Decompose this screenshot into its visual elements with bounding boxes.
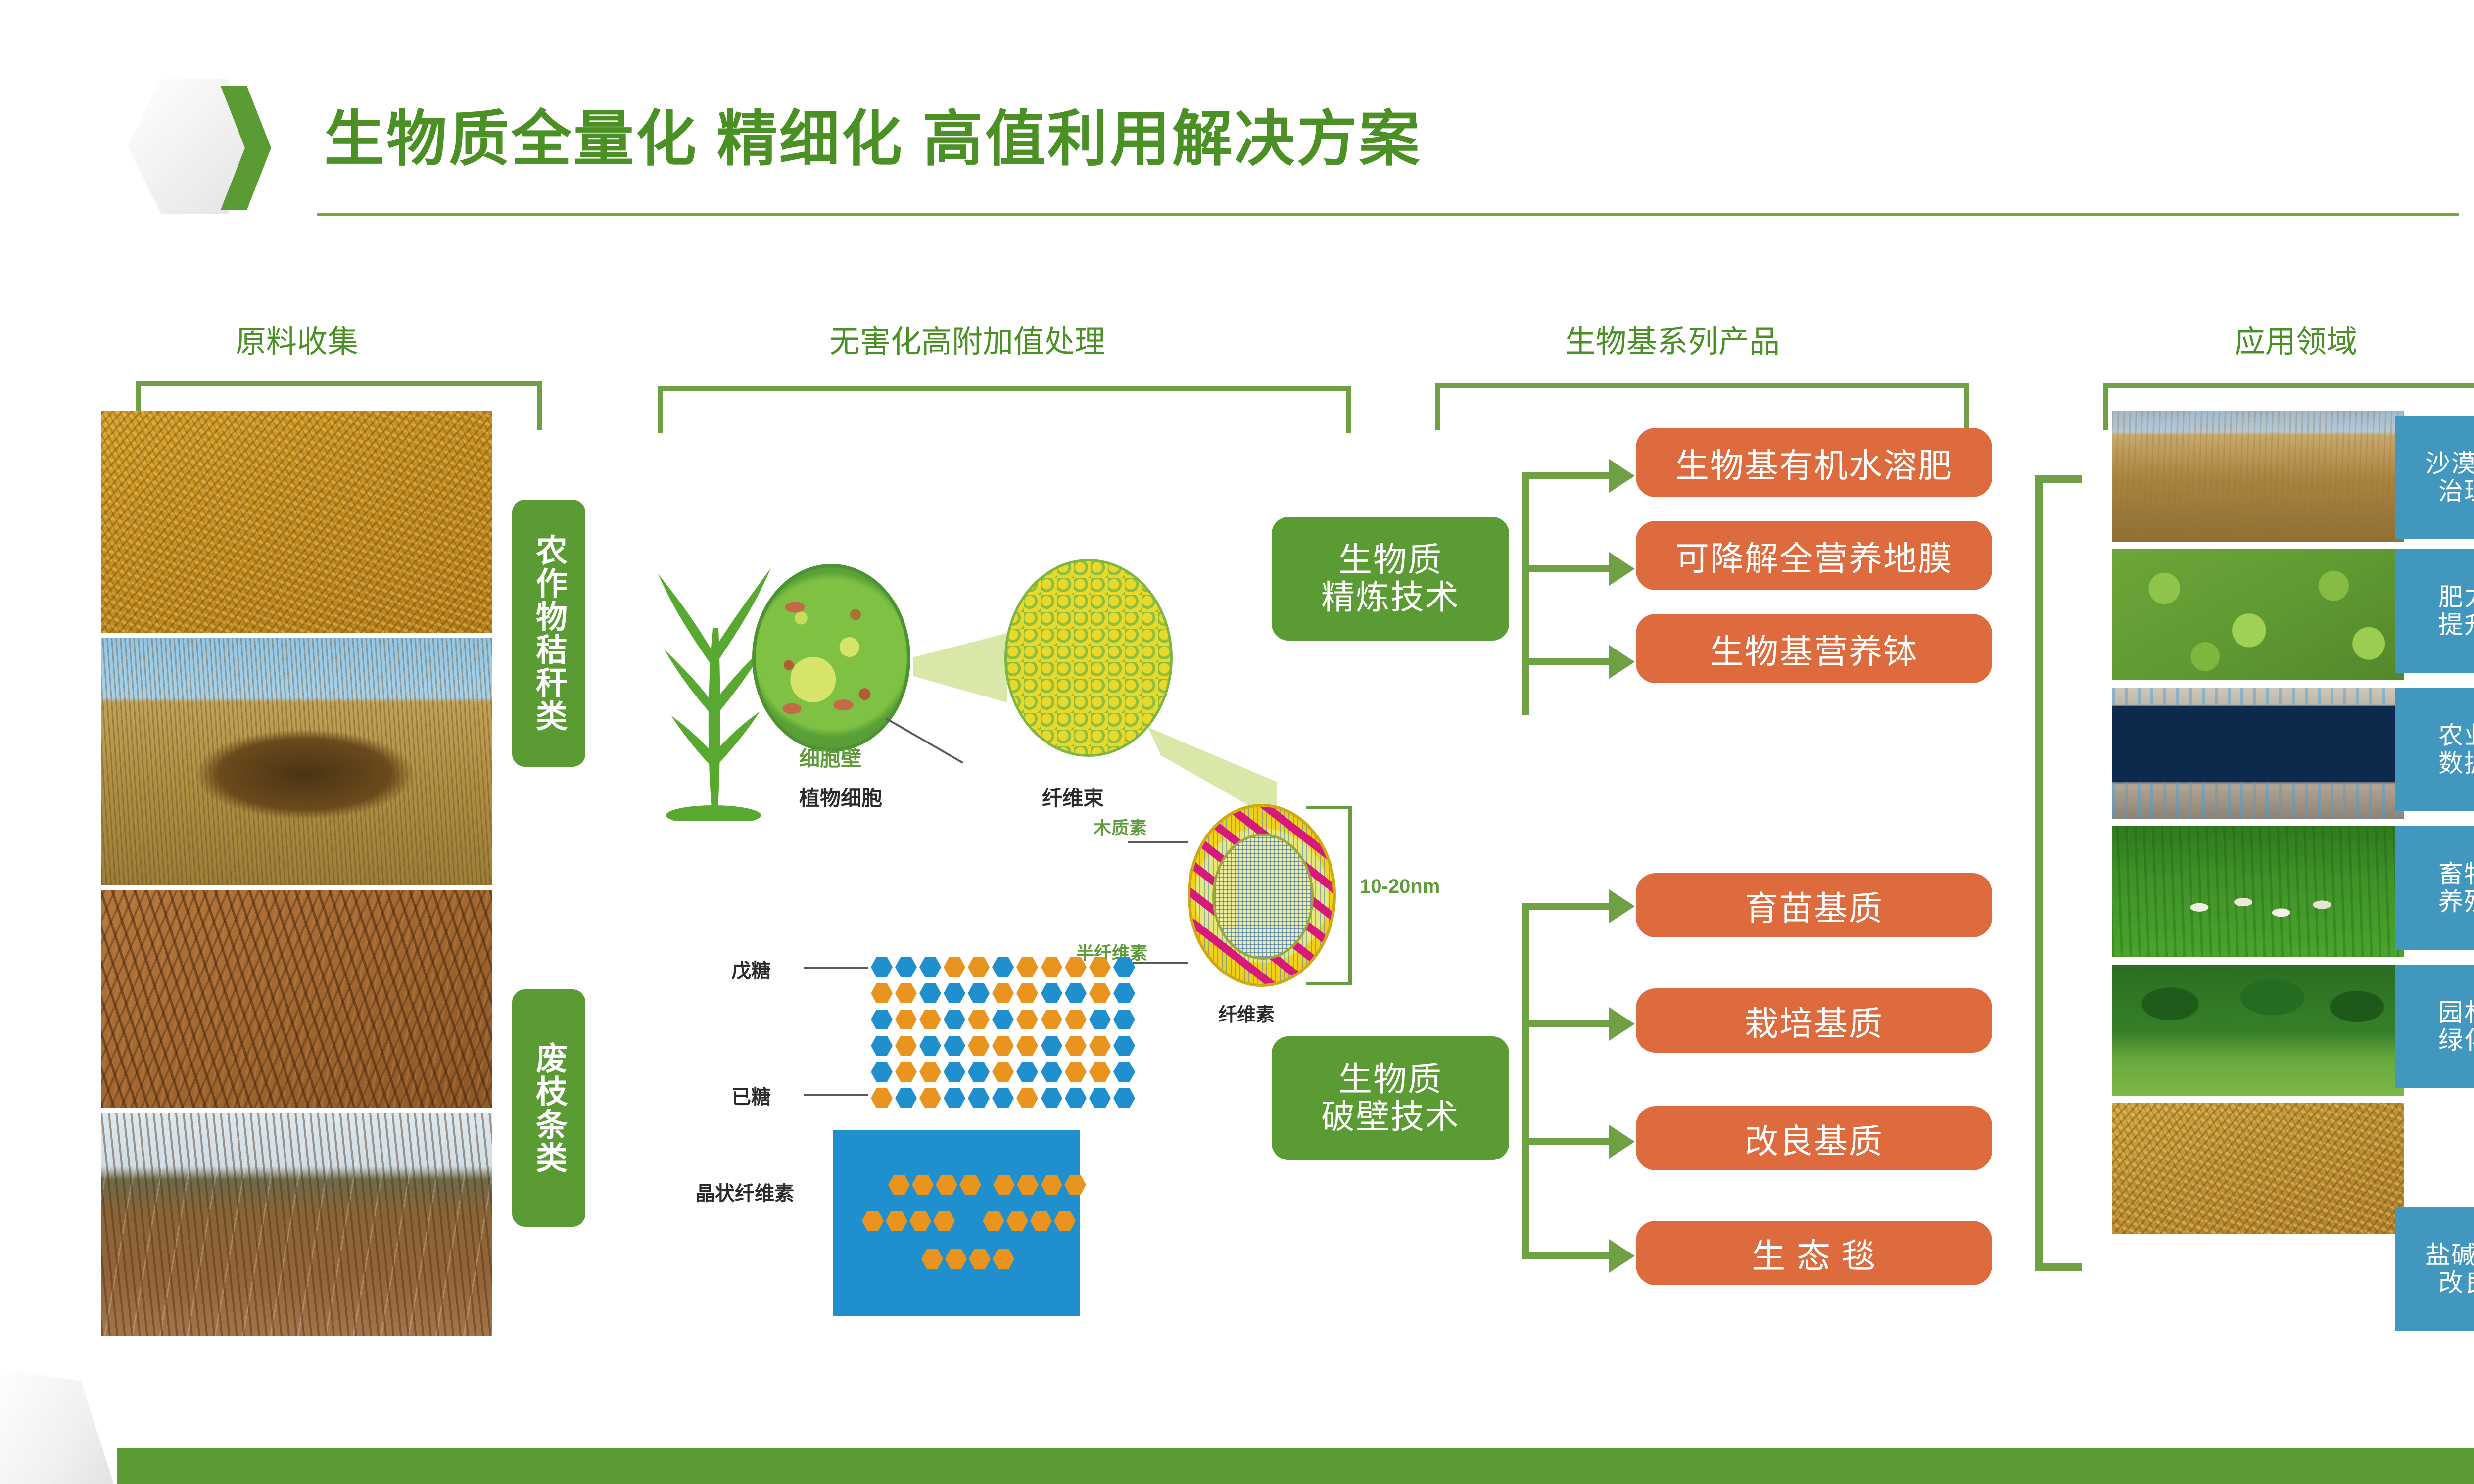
- application-tag-desertification[interactable]: 沙漠化 治理: [2395, 416, 2474, 539]
- app-livestock-line1: 畜牧: [2438, 860, 2474, 888]
- app-saline-line2: 改良: [2438, 1269, 2474, 1297]
- application-tag-saline-soil[interactable]: 盐碱地 改良: [2395, 1207, 2474, 1331]
- sugar-chain-row-2: [871, 983, 1135, 1003]
- pentose-leader-line: [804, 967, 868, 969]
- section-header-applications: 应用领域: [2113, 317, 2474, 361]
- application-photo-livestock: [2112, 826, 2404, 957]
- application-photo-agri-data: [2112, 688, 2404, 819]
- feedstock-tag-crop-straw: 农作物秸秆类: [512, 500, 585, 767]
- flow-arrow-line-wallbreak-4: [1522, 1252, 1611, 1259]
- flow-arrow-line-wallbreak-2: [1522, 1020, 1611, 1027]
- application-bracket-top: [2035, 475, 2082, 483]
- label-plant-cell: 植物细胞: [799, 782, 882, 812]
- fiber-bundle-illustration: [1004, 559, 1173, 757]
- application-photo-saline-soil: [2112, 1103, 2404, 1234]
- flow-arrow-head-wallbreak-2: [1609, 1007, 1635, 1041]
- application-photo-landscaping: [2112, 965, 2404, 1096]
- flow-arrow-head-refining-3: [1609, 645, 1635, 679]
- product-pill-seedling-substrate[interactable]: 育苗基质: [1636, 873, 1992, 937]
- app-livestock-line2: 养殖: [2438, 888, 2474, 916]
- cell-wall-leader-line: [885, 717, 963, 763]
- flow-arrow-head-refining-2: [1609, 552, 1635, 586]
- app-fertility-line1: 肥力: [2438, 583, 2474, 611]
- section-bracket-processing: [658, 386, 1351, 433]
- application-bracket-bottom: [2035, 1263, 2082, 1271]
- sugar-chain-row-1: [871, 957, 1135, 977]
- crystal-row-top: [888, 1175, 1086, 1195]
- page-title: 生物质全量化 精细化 高值利用解决方案: [324, 90, 1422, 178]
- feedstock-photo-branches: [101, 890, 492, 1108]
- application-tag-fertility[interactable]: 肥力 提升: [2395, 549, 2474, 673]
- feedstock-tag-waste-branches: 废枝条类: [512, 989, 585, 1227]
- tech-box-wall-breaking[interactable]: 生物质 破壁技术: [1272, 1036, 1509, 1160]
- application-photo-desertification: [2112, 411, 2404, 542]
- label-fiber-dimension: 10-20nm: [1360, 876, 1440, 898]
- application-tag-landscaping[interactable]: 园林 绿化: [2395, 965, 2474, 1088]
- flow-bracket-refining-stem: [1522, 472, 1529, 715]
- flow-arrow-line-refining-2: [1522, 565, 1611, 572]
- product-pill-cultivation-substrate[interactable]: 栽培基质: [1636, 988, 1992, 1053]
- section-header-feedstock: 原料收集: [148, 317, 445, 361]
- dimension-tick-top: [1306, 806, 1352, 809]
- product-pill-nutrient-pot[interactable]: 生物基营养钵: [1636, 614, 1992, 683]
- cellulose-core: [1212, 834, 1314, 960]
- dimension-line-vertical: [1348, 806, 1352, 984]
- flow-arrow-line-refining-1: [1522, 472, 1611, 479]
- hexose-leader-line: [804, 1094, 868, 1096]
- product-pill-ecological-blanket[interactable]: 生 态 毯: [1636, 1221, 1992, 1285]
- app-landscape-line1: 园林: [2438, 999, 2474, 1026]
- app-desert-line2: 治理: [2438, 477, 2474, 505]
- feedstock-photo-corn-straw: [101, 411, 492, 633]
- sugar-chain-row-6: [871, 1088, 1135, 1108]
- flow-arrow-line-wallbreak-1: [1522, 903, 1611, 910]
- product-pill-improvement-substrate[interactable]: 改良基质: [1636, 1106, 1992, 1170]
- app-saline-line1: 盐碱地: [2426, 1241, 2474, 1269]
- label-hexose: 已糖: [731, 1081, 771, 1110]
- sugar-chain-row-4: [871, 1036, 1135, 1056]
- sugar-chain-row-3: [871, 1010, 1135, 1029]
- product-pill-biodegradable-mulch-film[interactable]: 可降解全营养地膜: [1636, 521, 1992, 590]
- dimension-tick-bottom: [1306, 982, 1352, 985]
- section-header-products: 生物基系列产品: [1425, 317, 1920, 361]
- flow-arrow-head-wallbreak-3: [1609, 1125, 1635, 1159]
- section-header-processing: 无害化高附加值处理: [715, 317, 1220, 361]
- hexagon-logo: [128, 73, 271, 219]
- label-crystalline-cellulose: 晶状纤维素: [695, 1177, 794, 1206]
- product-pill-water-soluble-fertilizer[interactable]: 生物基有机水溶肥: [1636, 428, 1992, 497]
- app-desert-line1: 沙漠化: [2426, 450, 2474, 477]
- label-pentose: 戊糖: [731, 955, 771, 983]
- flow-arrow-line-refining-3: [1522, 658, 1611, 665]
- flow-arrow-line-wallbreak-3: [1522, 1138, 1611, 1145]
- magnify-beam-2: [913, 633, 1007, 702]
- application-bracket-stem: [2035, 475, 2043, 1271]
- section-bracket-products: [1435, 383, 1969, 430]
- application-tag-agri-data[interactable]: 农业 数据: [2395, 688, 2474, 811]
- title-divider: [317, 213, 2459, 216]
- flow-arrow-head-wallbreak-1: [1609, 889, 1635, 923]
- crystal-row-middle: [862, 1211, 1076, 1231]
- application-photo-fertility: [2112, 549, 2404, 680]
- feedstock-photo-vineyard: [101, 1113, 492, 1336]
- tech-refining-line1: 生物质: [1338, 541, 1442, 579]
- feedstock-photo-straw-bale: [101, 638, 492, 885]
- label-lignin: 木质素: [1094, 814, 1147, 839]
- application-tag-livestock[interactable]: 畜牧 养殖: [2395, 826, 2474, 950]
- app-data-line2: 数据: [2438, 749, 2474, 777]
- plant-cell-illustration: [752, 564, 910, 752]
- tech-box-refining[interactable]: 生物质 精炼技术: [1272, 517, 1509, 641]
- tech-refining-line2: 精炼技术: [1321, 579, 1460, 616]
- lignin-leader-line: [1128, 841, 1188, 843]
- tech-wallbreak-line2: 破壁技术: [1321, 1098, 1460, 1136]
- flow-arrow-head-wallbreak-4: [1609, 1239, 1635, 1273]
- label-cell-wall: 细胞壁: [799, 742, 861, 772]
- app-landscape-line2: 绿化: [2438, 1026, 2474, 1054]
- label-cellulose: 纤维素: [1218, 999, 1275, 1026]
- app-data-line1: 农业: [2438, 722, 2474, 749]
- label-fiber-bundle: 纤维束: [1042, 782, 1104, 812]
- footer-bar: [117, 1448, 2474, 1484]
- tech-wallbreak-line1: 生物质: [1338, 1061, 1442, 1098]
- app-fertility-line2: 提升: [2438, 611, 2474, 639]
- sugar-chain-row-5: [871, 1062, 1135, 1082]
- flow-arrow-head-refining-1: [1609, 459, 1635, 493]
- crystal-row-bottom: [921, 1249, 1014, 1269]
- flow-bracket-wallbreak-stem: [1522, 903, 1529, 1256]
- infographic-slide: 生物质全量化 精细化 高值利用解决方案 原料收集 无害化高附加值处理 生物基系列…: [0, 0, 2474, 1484]
